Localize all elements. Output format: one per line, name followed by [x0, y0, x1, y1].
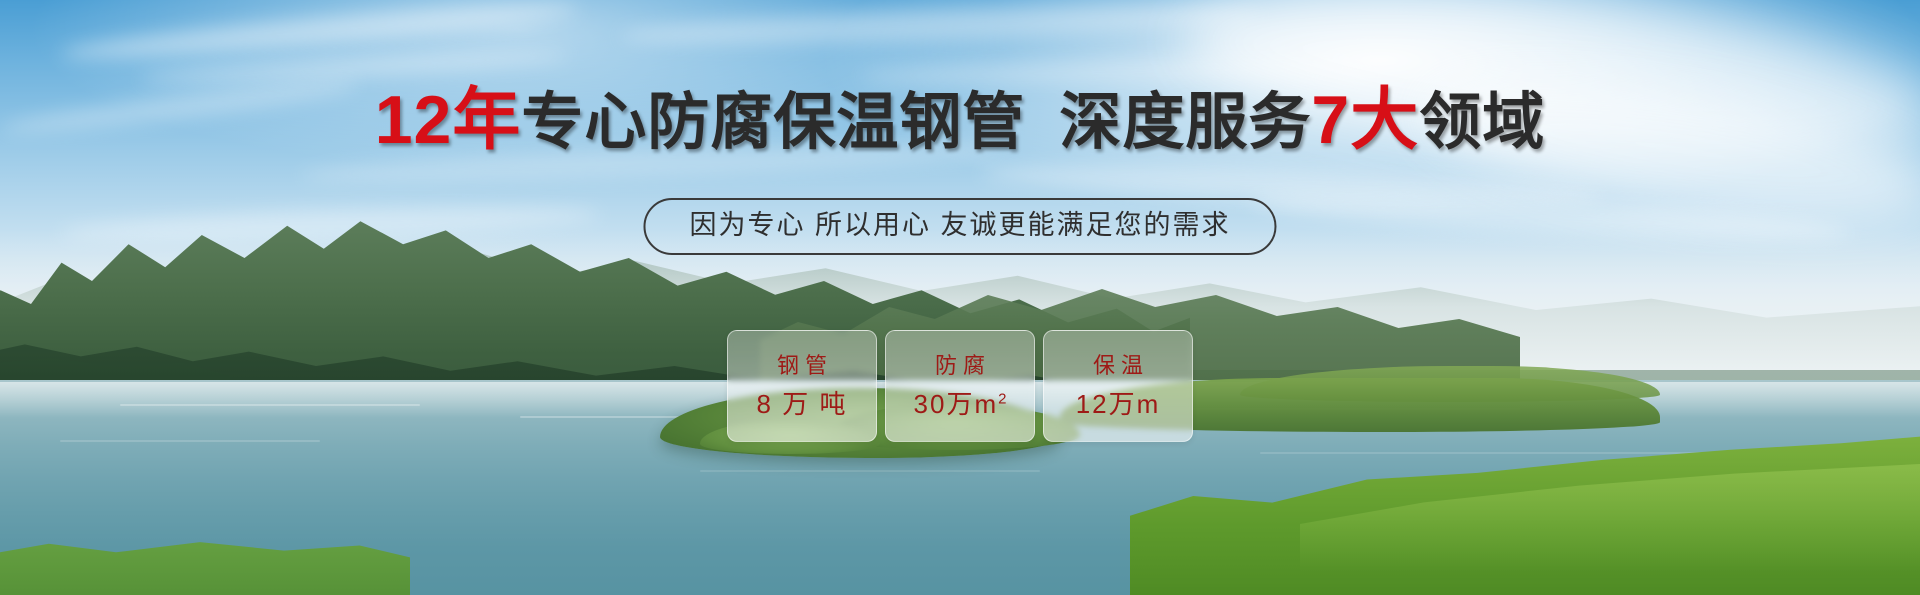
- hero-banner: 12年专心防腐保温钢管深度服务7大领域 因为专心 所以用心 友诚更能满足您的需求…: [0, 0, 1920, 595]
- stat-card-anticorrosion[interactable]: 防腐 30万m2: [885, 330, 1035, 442]
- stat-value-text: 12万m: [1076, 389, 1161, 419]
- stat-value-text: 30万m: [914, 389, 999, 419]
- stat-card-group: 钢管 8 万 吨 防腐 30万m2 保温 12万m: [727, 330, 1193, 442]
- headline-service: 深度服务: [1059, 88, 1311, 157]
- headline: 12年专心防腐保温钢管深度服务7大领域: [0, 86, 1920, 154]
- headline-count: 7大: [1311, 82, 1419, 158]
- stat-card-value: 12万m: [1076, 391, 1161, 417]
- stat-card-label: 保温: [1087, 355, 1149, 377]
- stat-card-label: 防腐: [929, 355, 991, 377]
- headline-main: 专心防腐保温钢管: [521, 88, 1025, 157]
- headline-fields: 领域: [1419, 88, 1545, 157]
- stat-card-insulation[interactable]: 保温 12万m: [1043, 330, 1193, 442]
- stat-value-superscript: 2: [998, 390, 1006, 407]
- subtitle-pill: 因为专心 所以用心 友诚更能满足您的需求: [643, 198, 1276, 255]
- stat-card-value: 8 万 吨: [757, 391, 848, 417]
- stat-card-value: 30万m2: [914, 391, 1007, 417]
- stat-card-steel-pipe[interactable]: 钢管 8 万 吨: [727, 330, 877, 442]
- stat-value-text: 8 万 吨: [757, 389, 848, 419]
- stat-card-label: 钢管: [771, 355, 833, 377]
- headline-years: 12年: [375, 82, 522, 158]
- banner-content: 12年专心防腐保温钢管深度服务7大领域 因为专心 所以用心 友诚更能满足您的需求…: [0, 0, 1920, 595]
